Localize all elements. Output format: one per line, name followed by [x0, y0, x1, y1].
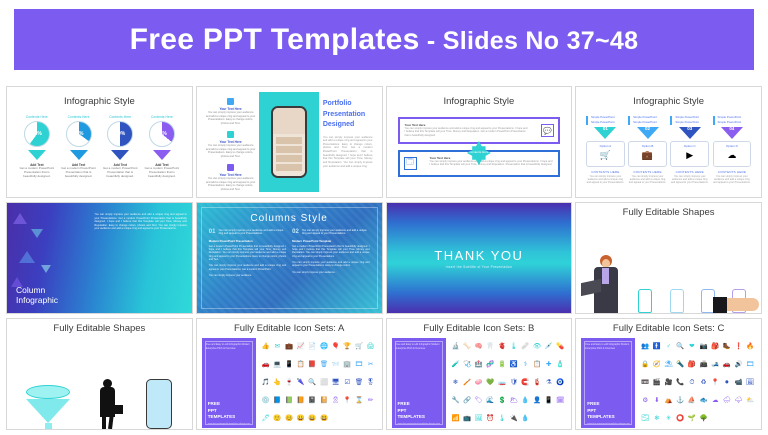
icon-cell: 💻 [273, 362, 281, 369]
icon-cell: ⏱ [689, 380, 694, 387]
icon-cell: ✳ [666, 416, 671, 423]
triangle-badge: 03 [679, 127, 701, 139]
cloud-icon: ☁ [714, 150, 751, 161]
icon-cell: ♿ [510, 362, 518, 369]
icon-cell: 👍 [262, 344, 270, 351]
icon-cell: ✉ [275, 344, 280, 351]
icon-grid-c: 👥🚹♂🔍❤📷🎒🥾❗🔥🔒🧭⛱🔦🎒📠🎿🚗🔊🎞📼🎬🎥📞⏱♻📍⏺📹🖼⚙⬇⛺⚓⛵🐟☁🌧🌩⛅… [639, 338, 756, 428]
portfolio-feature: Your Text Here You can simply impress yo… [206, 98, 256, 125]
slide-title: Infographic Style [392, 92, 567, 107]
icon-cell: 🔊 [734, 362, 742, 369]
icon-cell: 🌡 [510, 344, 518, 351]
icon-cell: 📶 [451, 416, 459, 423]
icon-cell: 🩹 [521, 344, 529, 351]
icon-cell: 🧴 [556, 362, 564, 369]
cover-top-text: Free and Easy to edit Infographic Modern… [396, 343, 442, 350]
column-heading: CONTENTS HERE [670, 170, 709, 174]
icon-cell: 🩺 [463, 362, 471, 369]
icon-cell: 🎗 [332, 398, 340, 405]
icon-cell: 🏥 [475, 362, 483, 369]
columns-style-frame: Columns Style 01 You can simply impress … [201, 207, 378, 309]
slide-thumbnail-icon-sets-b[interactable]: Fully Editable Icon Sets: B Free and Eas… [386, 318, 573, 430]
pie-caption: Add TextGet a modern PowerPoint Presenta… [60, 163, 97, 178]
icon-cell: 🧲 [521, 380, 529, 387]
icon-cell: 🖊 [262, 416, 270, 423]
icon-cell: ♂ [666, 344, 671, 351]
slide-title: Fully Editable Icon Sets: A [197, 319, 382, 334]
businessman-silhouette [97, 379, 119, 429]
chat-icon: 💬 [541, 124, 554, 137]
pie-chart: 50% [107, 121, 133, 147]
slide-title: Infographic Style [581, 92, 756, 107]
pie-heading: Contents Here [19, 115, 56, 119]
feature-body: You can simply impress your audience and… [206, 177, 256, 191]
columns-style-column: 01 You can simply impress your audience … [209, 229, 286, 280]
pin-triangle [153, 150, 171, 160]
target-icon [227, 131, 234, 138]
pin-triangle [111, 150, 129, 160]
triangle-badge: 02 [637, 127, 659, 139]
icon-cell: 📷 [699, 344, 707, 351]
icon-cell: 📙 [297, 398, 305, 405]
grid-icon [227, 98, 234, 105]
pie-caption: Add TextGet a modern PowerPoint Presenta… [144, 163, 181, 178]
triangle-number: 04 [727, 126, 737, 131]
thank-you-heading: THANK YOU [434, 248, 523, 263]
pie-value: 36% [150, 122, 174, 146]
pie-column: Contents Here 36% Add TextGet a modern P… [144, 115, 181, 178]
hand-two-icon [670, 289, 684, 313]
icon-cell: 📺 [463, 416, 471, 423]
icon-cell: ⬜ [320, 380, 328, 387]
icon-cell: 💚 [486, 380, 494, 387]
window-icon: 🗔 [404, 157, 417, 170]
column-lead: You can simply impress your audience and… [292, 229, 369, 236]
video-icon: ▶ [671, 150, 708, 161]
portfolio-feature: Your Text Here You can simply impress yo… [206, 131, 256, 158]
portfolio-right-column: Portfolio Presentation Designed You can … [319, 92, 377, 192]
pie-chart: 36% [149, 121, 175, 147]
icon-cell: ⛱ [664, 362, 672, 369]
column-body: You can simply impress your audience and… [586, 175, 625, 185]
pie-chart: 35% [66, 121, 92, 147]
column-body: You can simply impress your audience and… [628, 175, 667, 185]
icon-cell: 🫀 [498, 344, 506, 351]
icon-cell: ⏰ [486, 416, 494, 423]
icon-cell: 🎥 [665, 380, 673, 387]
icon-cell: 🌥 [510, 398, 518, 405]
column-item: Simple PowerPointSimple PowerPoint 02 Op… [628, 115, 667, 184]
column-item: Simple PowerPointSimple PowerPoint 04 Op… [713, 115, 752, 184]
cart-icon: 🛒 [587, 150, 624, 161]
icon-cell: 📱 [285, 362, 293, 369]
icon-cell: 🧬 [486, 362, 494, 369]
column-lead: You can simply impress your audience and… [209, 229, 286, 236]
icon-cell: ☑ [344, 380, 350, 387]
slide-title: Columns Style [202, 213, 377, 224]
slide-thumbnail-icon-sets-c[interactable]: Fully Editable Icon Sets: C Free and Eas… [575, 318, 762, 430]
icon-cell: ⚕ [524, 362, 528, 369]
pie-caption: Add TextGet a modern PowerPoint Presenta… [19, 163, 56, 178]
box-label: Option D [714, 144, 751, 148]
column-lines: Simple PowerPointSimple PowerPoint [670, 115, 709, 125]
icon-cell: 🧿 [556, 380, 564, 387]
icon-cell: 😀 [297, 416, 305, 423]
icon-cell: 🌫 [641, 416, 649, 423]
triangle-number: 01 [600, 126, 610, 131]
cover-brand-sub: www.free-powerpoint-templates-design.com [208, 423, 251, 425]
banner-title: Free PPT Templates - Slides No 37~48 [130, 23, 639, 57]
icon-cell: 📗 [285, 398, 293, 405]
icon-cell: 🔬 [451, 344, 459, 351]
icon-cell: 📠 [699, 362, 707, 369]
icon-cell: 🔗 [463, 398, 471, 405]
icon-cell: 🖥 [332, 380, 340, 387]
slide-thumbnail-thank-you[interactable]: THANK YOU Insert the Subtitle of Your Pr… [386, 202, 573, 314]
icon-cell: 🎒 [688, 362, 696, 369]
icon-cell: 🏢 [343, 362, 351, 369]
icon-cell: ⚓ [676, 398, 684, 405]
icon-cell: 🧠 [475, 344, 483, 351]
slide-thumbnail-columns-style[interactable]: Columns Style 01 You can simply impress … [196, 202, 383, 314]
icon-cell: 🐟 [699, 398, 707, 405]
icon-cell: 👤 [533, 398, 541, 405]
icon-cell: 🧫 [498, 380, 506, 387]
icon-cell: 🚹 [653, 344, 661, 351]
icon-cell: 💊 [556, 344, 564, 351]
icon-cell: ❗ [734, 344, 742, 351]
column-body-2: You can simply impress your audience and… [209, 264, 286, 271]
cover-brand: FREE PPT TEMPLATES [587, 401, 614, 420]
column-box: Option C ▶ [670, 141, 709, 167]
icon-cell: 🔌 [510, 416, 518, 423]
portfolio-feature: Your Text Here You can simply impress yo… [206, 164, 256, 191]
icon-cell: 🎬 [653, 380, 661, 387]
icon-cell: 🔥 [746, 344, 754, 351]
pie-chart: 60% [24, 121, 50, 147]
icon-cell: ⚗ [546, 380, 552, 387]
slide-title: Fully Editable Shapes [7, 319, 192, 334]
column-heading: CONTENTS HERE [586, 170, 625, 174]
column-lines: Simple PowerPointSimple PowerPoint [628, 115, 667, 125]
star-icon [227, 164, 234, 171]
icon-cell: 📓 [308, 398, 316, 405]
icon-cell: 📨 [332, 362, 340, 369]
icon-cell: 🛒 [355, 344, 363, 351]
icon-cell: 🥾 [723, 344, 731, 351]
slide-thumbnail-infographic-pie[interactable]: Infographic Style Contents Here 60% Add … [6, 86, 193, 198]
icon-cell: 🌡 [498, 416, 506, 423]
content-box-top: Your Text Here You can simply impress yo… [398, 117, 561, 144]
hand-one-icon [638, 289, 652, 313]
icon-cell: 🖼 [475, 416, 483, 423]
column-box: Option A 🛒 [586, 141, 625, 167]
cover-top-text: Free and Easy to edit Infographic Modern… [206, 343, 252, 350]
slide-title: Fully Editable Icon Sets: C [576, 319, 761, 334]
box-label: Option C [671, 144, 708, 148]
icon-cell: ⏺ [725, 380, 728, 387]
pie-heading: Contents Here [60, 115, 97, 119]
icon-grid-b: 🔬🦴🧠🦷🫀🌡🩹👁💉💊🧪🩺🏥🧬🔋♿⚕📋✚🧴❄🪥🧼💚🧫🛡🧲🧯⚗🧿🔧🔗🏷🌊💲🌥💧👤📱🗓… [450, 338, 567, 428]
column-box: Option B 💼 [628, 141, 667, 167]
icon-cell: 🎒 [711, 344, 719, 351]
smartphone-icon [146, 379, 172, 429]
icon-cell: 🌊 [486, 398, 494, 405]
pie-value: 35% [67, 122, 91, 146]
icon-cell: 🧭 [653, 362, 661, 369]
column-body-2: You can simply impress your audience and… [292, 261, 369, 268]
column-infographic-heading: ColumnInfographic [16, 285, 58, 306]
briefcase-icon: 💼 [629, 150, 666, 161]
column-body: Get a modern PowerPoint Presentation tha… [209, 245, 286, 261]
slide-title: Fully Editable Icon Sets: B [387, 319, 572, 334]
icon-cell: ✚ [546, 362, 551, 369]
column-number: 01 [209, 229, 216, 235]
cover-brand: FREE PPT TEMPLATES [398, 401, 425, 420]
column-body-3: You can simply impress your audience. [209, 274, 286, 277]
icon-cell: 💲 [498, 398, 506, 405]
icon-cell: 🌳 [699, 416, 707, 423]
pie-caption: Add TextGet a modern PowerPoint Presenta… [102, 163, 139, 178]
suit-cuff [713, 297, 727, 313]
icon-cell: 🔍 [308, 380, 316, 387]
slide-thumbnail-shapes-objects[interactable]: Fully Editable Shapes [6, 318, 193, 430]
icon-cell: ⭕ [676, 416, 684, 423]
cover-panel: Free and Easy to edit Infographic Modern… [202, 338, 256, 428]
column-body-3: You can simply impress your audience. [292, 271, 369, 274]
pie-column: Contents Here 35% Add TextGet a modern P… [60, 115, 97, 178]
icon-cell: 🎖 [367, 380, 375, 387]
icon-cell: 🌐 [320, 344, 328, 351]
pie-column: Contents Here 50% Add TextGet a modern P… [102, 115, 139, 178]
icon-grid-a: 👍✉💼📈📄🌐🎈🏆🛒🖨🚗💻📱📋📕🗑📨🏢🎞✂🎵👆🍷🌂🔍⬜🖥☑🗑🎖💿📘📗📙📓📔🎗📍⌛✏… [260, 338, 377, 428]
pie-chart-row: Contents Here 60% Add TextGet a modern P… [12, 107, 187, 178]
icon-cell: 💧 [521, 416, 529, 423]
funnel-icon [26, 385, 70, 429]
icon-cell: 📍 [711, 380, 719, 387]
icon-cell: 📔 [320, 398, 328, 405]
icon-cell: 🛡 [510, 380, 518, 387]
pie-value: 60% [25, 122, 49, 146]
column-subtitle: Modern PowerPoint Presentation [209, 239, 286, 243]
gradient-background: ColumnInfographic You can simply impress… [7, 203, 192, 313]
pie-column: Contents Here 60% Add TextGet a modern P… [19, 115, 56, 178]
icon-cell: 📘 [273, 398, 281, 405]
icon-cell: 🎿 [711, 362, 719, 369]
icon-cell: 😊 [285, 416, 293, 423]
icon-cell: ⛺ [665, 398, 673, 405]
icon-cell: 🙂 [273, 416, 281, 423]
header-banner: Free PPT Templates - Slides No 37~48 [14, 9, 754, 70]
icon-cell: 🗑 [355, 380, 363, 387]
icon-cell: 🌧 [723, 398, 731, 405]
icon-cell: 📼 [641, 380, 649, 387]
icon-cell: ⛅ [746, 398, 754, 405]
icon-cell: 🍷 [285, 380, 293, 387]
column-heading: CONTENTS HERE [628, 170, 667, 174]
icon-cell: 📞 [676, 380, 684, 387]
pin-triangle [70, 150, 88, 160]
icon-cell: 😃 [320, 416, 328, 423]
triangle-badge: 01 [594, 127, 616, 139]
icon-cell: 🔧 [451, 398, 459, 405]
icon-cell: 🎵 [262, 380, 270, 387]
thank-you-subheading: Insert the Subtitle of Your Presentation [446, 265, 512, 269]
box-label: Option B [629, 144, 666, 148]
triangle-badge: 04 [721, 127, 743, 139]
portfolio-body: You can simply impress your audience and… [323, 136, 373, 169]
cover-panel: Free and Easy to edit Infographic Modern… [392, 338, 446, 428]
slide-thumbnail-column-infographic[interactable]: ColumnInfographic You can simply impress… [6, 202, 193, 314]
icon-cell: 👆 [273, 380, 281, 387]
slide-thumbnail-infographic-4col[interactable]: Infographic Style Simple PowerPointSimpl… [575, 86, 762, 198]
portfolio-left-column: Your Text Here You can simply impress yo… [202, 92, 260, 192]
box-body: You can simply impress your audience and… [430, 160, 554, 167]
portfolio-heading: Portfolio Presentation Designed [323, 99, 373, 131]
icon-cell: 🌂 [297, 380, 305, 387]
banner-title-sub: - Slides No 37~48 [420, 27, 639, 55]
box-label: Option A [587, 144, 624, 148]
triangle-number: 02 [643, 126, 653, 131]
icon-cell: ⛵ [688, 398, 696, 405]
icon-cell: 🎞 [746, 362, 754, 369]
icon-cell: 🧪 [451, 362, 459, 369]
feature-body: You can simply impress your audience and… [206, 144, 256, 158]
column-body: Get a modern PowerPoint Presentation tha… [292, 245, 369, 258]
icon-cell: 🎞 [355, 362, 363, 369]
icon-cell: ⬇ [654, 398, 659, 405]
slide-thumbnail-icon-sets-a[interactable]: Fully Editable Icon Sets: A Free and Eas… [196, 318, 383, 430]
icon-cell: 🧼 [475, 380, 483, 387]
icon-cell: ❄ [654, 416, 659, 423]
icon-cell: 🔦 [676, 362, 684, 369]
icon-cell: 🦷 [486, 344, 494, 351]
pie-value: 50% [108, 122, 132, 146]
icon-cell: ❤ [689, 344, 694, 351]
slide-thumbnail-shapes-people[interactable]: Fully Editable Shapes [575, 202, 762, 314]
icon-cell: ❄ [453, 380, 458, 387]
box-body: You can simply impress your audience and… [405, 127, 529, 137]
cover-brand-sub: www.free-powerpoint-templates-design.com [398, 423, 441, 425]
icon-cell: 🏷 [475, 398, 483, 405]
icon-cell: 🖼 [746, 380, 754, 387]
cover-top-text: Free and Easy to edit Infographic Modern… [585, 343, 631, 350]
cover-brand: FREE PPT TEMPLATES [208, 401, 235, 420]
slide-grid: Infographic Style Contents Here 60% Add … [6, 86, 762, 430]
icon-cell: 📄 [308, 344, 316, 351]
slide-thumbnail-portfolio[interactable]: Your Text Here You can simply impress yo… [196, 86, 383, 198]
column-lines: Simple PowerPointSimple PowerPoint [713, 115, 752, 125]
icon-cell: ☁ [712, 398, 719, 405]
icon-cell: 🧯 [533, 380, 541, 387]
icon-cell: 🖨 [367, 344, 375, 351]
icon-cell: 💿 [262, 398, 270, 405]
column-item: Simple PowerPointSimple PowerPoint 03 Op… [670, 115, 709, 184]
column-body: You can simply impress your audience and… [670, 175, 709, 185]
templates-preview-page: Free PPT Templates - Slides No 37~48 Inf… [0, 0, 768, 435]
columns-style-column: 02 You can simply impress your audience … [292, 229, 369, 280]
icon-cell: ⚙ [642, 398, 648, 405]
icon-cell: 💼 [285, 344, 293, 351]
cover-panel: Free and Easy to edit Infographic Modern… [581, 338, 635, 428]
icon-cell: ✏ [368, 398, 373, 405]
icon-cell: ✂ [368, 362, 373, 369]
banner-title-main: Free PPT Templates [130, 23, 420, 56]
column-infographic-body: You can simply impress your audience and… [94, 213, 186, 231]
icon-cell: 🦴 [463, 344, 471, 351]
pie-heading: Contents Here [102, 115, 139, 119]
icon-cell: 🔋 [498, 362, 506, 369]
icon-cell: 👁 [533, 344, 541, 351]
icon-cell: 🗑 [320, 362, 328, 369]
icon-cell: 📋 [533, 362, 541, 369]
icon-cell: 🚗 [262, 362, 270, 369]
icon-cell: 📍 [343, 398, 351, 405]
slide-thumbnail-infographic-boxes[interactable]: Infographic Style Your Text Here You can… [386, 86, 573, 198]
icon-cell: ♻ [701, 380, 707, 387]
smartphone-mockup [271, 106, 307, 178]
icon-cell: 🏆 [343, 344, 351, 351]
icon-cell: 💧 [521, 398, 529, 405]
icon-cell: 💉 [545, 344, 553, 351]
icon-cell: 🌱 [688, 416, 696, 423]
woman-with-laptop-illustration [591, 255, 621, 313]
column-lines: Simple PowerPointSimple PowerPoint [586, 115, 625, 125]
icon-cell: 🚗 [723, 362, 731, 369]
icon-cell: 🔒 [641, 362, 649, 369]
icon-cell: 🔍 [676, 344, 684, 351]
icon-cell: 🪥 [463, 380, 471, 387]
icon-cell: 🎈 [332, 344, 340, 351]
icon-cell: 👥 [641, 344, 649, 351]
cover-brand-sub: www.free-powerpoint-templates-design.com [587, 423, 630, 425]
column-number: 02 [292, 229, 299, 235]
icon-cell: ⌛ [355, 398, 363, 405]
column-item: Simple PowerPointSimple PowerPoint 01 Op… [586, 115, 625, 184]
triangle-number: 03 [685, 126, 695, 131]
icon-cell: 📋 [297, 362, 305, 369]
icon-cell: 📹 [734, 380, 742, 387]
column-heading: CONTENTS HERE [713, 170, 752, 174]
icon-cell: 📕 [308, 362, 316, 369]
pin-triangle [28, 150, 46, 160]
icon-cell: 📈 [297, 344, 305, 351]
column-box: Option D ☁ [713, 141, 752, 167]
icon-cell: 🗓 [556, 398, 564, 405]
icon-cell: 📱 [545, 398, 553, 405]
icon-cell: 😄 [308, 416, 316, 423]
slide-title: Infographic Style [12, 92, 187, 107]
column-subtitle: Modern PowerPoint Template [292, 239, 369, 243]
slide-title: Fully Editable Shapes [576, 203, 761, 218]
portfolio-image-panel [259, 92, 318, 192]
column-body: You can simply impress your audience and… [713, 175, 752, 185]
pie-heading: Contents Here [144, 115, 181, 119]
icon-cell: 🌩 [734, 398, 742, 405]
feature-body: You can simply impress your audience and… [206, 111, 256, 125]
